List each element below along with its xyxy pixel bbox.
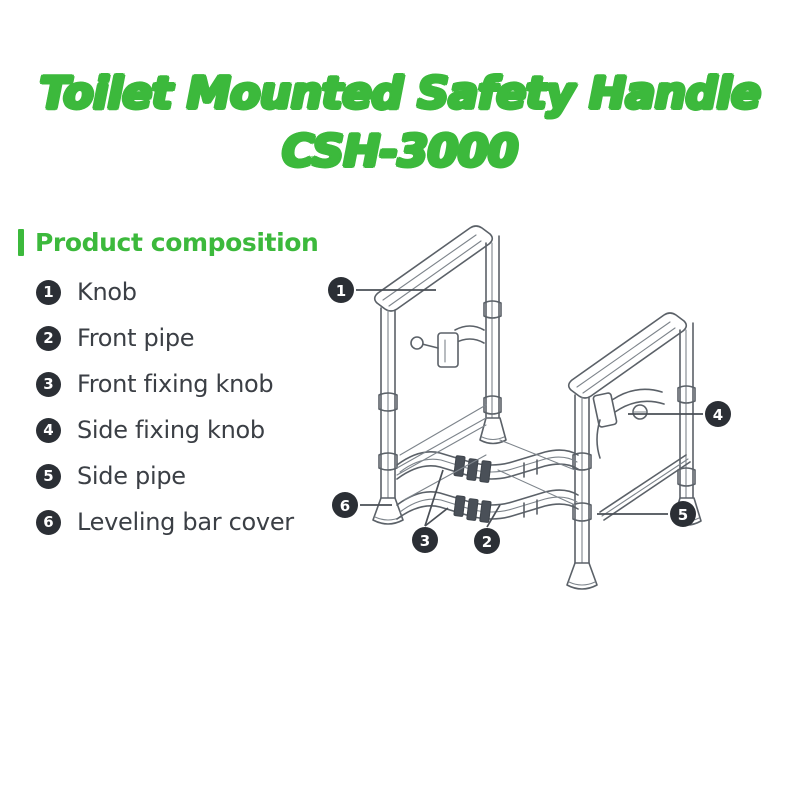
list-item-label: Knob <box>77 278 137 306</box>
list-item-label: Front pipe <box>77 324 194 352</box>
callout-badge-4: 4 <box>705 401 731 427</box>
list-item: 4 Side fixing knob <box>18 407 378 453</box>
list-item: 5 Side pipe <box>18 453 378 499</box>
list-item-label: Side fixing knob <box>77 416 265 444</box>
side-fixing-knob-left <box>411 326 484 367</box>
page-title: Toilet Mounted Safety Handle <box>0 72 800 116</box>
number-badge-5: 5 <box>36 464 61 489</box>
heading-accent-bar <box>18 229 24 256</box>
model-number: CSH-3000 <box>0 130 800 174</box>
left-armrest-assembly <box>373 226 506 524</box>
leg-right-rear <box>673 323 701 525</box>
number-badge-2: 2 <box>36 326 61 351</box>
armrest-pad-right <box>569 313 687 398</box>
product-composition-section: Product composition 1 Knob 2 Front pipe … <box>18 228 378 545</box>
callout-badge-3: 3 <box>412 527 438 553</box>
callout-number-2: 2 <box>482 533 492 551</box>
list-item-label: Front fixing knob <box>77 370 273 398</box>
callout-leaders <box>356 290 703 527</box>
right-armrest-assembly <box>567 313 701 589</box>
front-pipe-upper <box>397 450 578 482</box>
list-item: 3 Front fixing knob <box>18 361 378 407</box>
callout-badge-5: 5 <box>670 501 696 527</box>
rear-cross-braces <box>397 405 575 505</box>
number-badge-1: 1 <box>36 280 61 305</box>
number-badge-6: 6 <box>36 510 61 535</box>
leg-left-rear <box>480 236 506 444</box>
list-item: 2 Front pipe <box>18 315 378 361</box>
side-fixing-knob-right <box>593 389 664 458</box>
number-badge-3: 3 <box>36 372 61 397</box>
side-pipe-right <box>600 455 690 520</box>
list-item-label: Leveling bar cover <box>77 508 294 536</box>
composition-list: 1 Knob 2 Front pipe 3 Front fixing knob … <box>18 269 378 545</box>
list-item: 6 Leveling bar cover <box>18 499 378 545</box>
front-pipe-lower <box>397 490 578 522</box>
callout-number-3: 3 <box>420 532 430 550</box>
section-heading: Product composition <box>18 228 378 257</box>
armrest-pad-left <box>375 226 493 311</box>
callout-badge-2: 2 <box>474 528 500 554</box>
leveling-bar-cover-right <box>567 563 597 589</box>
title-block: Toilet Mounted Safety Handle CSH-3000 <box>0 0 800 174</box>
section-heading-label: Product composition <box>35 228 318 257</box>
list-item: 1 Knob <box>18 269 378 315</box>
leg-right-front <box>567 395 597 589</box>
list-item-label: Side pipe <box>77 462 186 490</box>
number-badge-4: 4 <box>36 418 61 443</box>
callout-number-4: 4 <box>713 406 723 424</box>
front-pipe-assembly <box>397 405 578 523</box>
callout-number-5: 5 <box>678 506 688 524</box>
